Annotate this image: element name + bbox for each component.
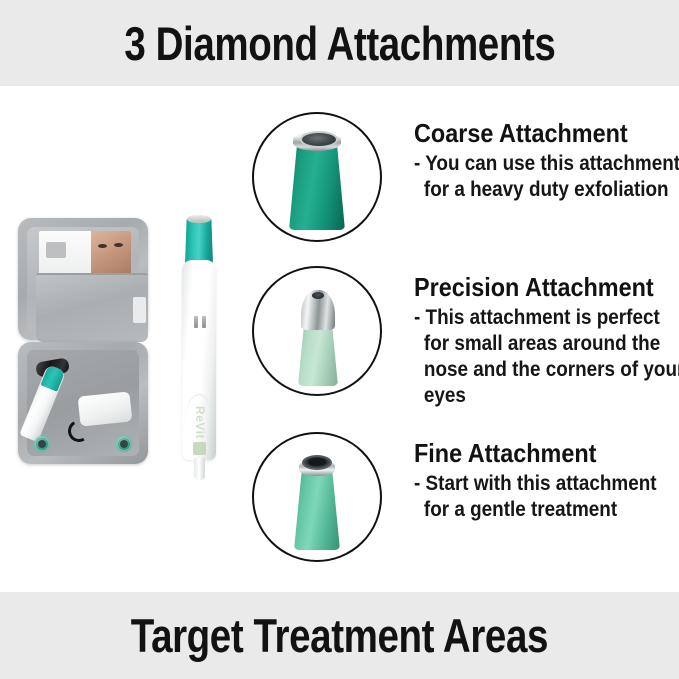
case-base-tray <box>27 350 139 456</box>
device-cord <box>194 458 205 480</box>
precision-tip-aperture <box>312 292 324 299</box>
case-base <box>18 342 148 464</box>
fine-desc-line: for a gentle treatment <box>414 497 653 523</box>
top-banner: 3 Diamond Attachments <box>0 0 679 86</box>
product-photo: ReVit <box>10 196 250 506</box>
case-lid <box>18 218 148 340</box>
coarse-heading: Coarse Attachment <box>414 118 653 148</box>
precision-desc-line: nose and the corners of your <box>414 357 653 383</box>
fine-tip-bore <box>308 458 326 466</box>
precision-desc-line: - This attachment is perfect <box>414 305 653 331</box>
case-lid-lining <box>27 227 139 331</box>
fine-heading: Fine Attachment <box>414 438 653 468</box>
coarse-diamond-tip-icon <box>254 114 380 240</box>
precision-description: - This attachment is perfect for small a… <box>414 305 653 409</box>
fine-text-block: Fine Attachment - Start with this attach… <box>414 438 679 523</box>
device-in-case <box>19 364 66 442</box>
device-attachment-tip <box>185 218 213 264</box>
face-eye-icon <box>98 244 107 248</box>
precision-desc-line: eyes <box>414 383 653 409</box>
device-tip-diamond-disc <box>187 215 211 223</box>
fine-diamond-tip-icon <box>254 434 380 560</box>
bottom-banner-title: Target Treatment Areas <box>131 612 548 659</box>
fine-attachment-circle <box>252 432 382 562</box>
bottom-banner: Target Treatment Areas <box>0 592 679 679</box>
fine-description: - Start with this attachment for a gentl… <box>414 471 653 523</box>
coarse-desc-line: - You can use this attachment <box>414 151 653 177</box>
travel-case <box>18 218 148 464</box>
device-brand-badge <box>193 442 206 455</box>
top-banner-title: 3 Diamond Attachments <box>124 20 555 67</box>
device-indicator-light <box>194 316 198 328</box>
precision-diamond-tip-icon <box>254 268 380 394</box>
coarse-tip-diamond-disc <box>300 131 338 148</box>
case-mesh-pocket <box>36 273 148 342</box>
coarse-desc-line: for a heavy duty exfoliation <box>414 177 653 203</box>
handheld-device: ReVit <box>174 210 222 482</box>
coarse-text-block: Coarse Attachment - You can use this att… <box>414 118 679 203</box>
device-indicator-light <box>202 316 206 328</box>
face-eye-icon <box>114 243 123 247</box>
coarse-attachment-circle <box>252 112 382 242</box>
precision-heading: Precision Attachment <box>414 272 653 302</box>
case-brand-tab <box>133 297 146 323</box>
coarse-description: - You can use this attachment for a heav… <box>414 151 653 203</box>
manual-cover-photo <box>91 231 131 275</box>
precision-attachment-circle <box>252 266 382 396</box>
manual-logo <box>46 242 66 258</box>
precision-text-block: Precision Attachment - This attachment i… <box>414 272 679 409</box>
device-brand-logo: ReVit <box>193 406 207 440</box>
infographic-root: 3 Diamond Attachments <box>0 0 679 679</box>
attachment-head-slot <box>34 436 50 452</box>
fine-desc-line: - Start with this attachment <box>414 471 653 497</box>
fine-tip-body <box>294 470 340 550</box>
precision-desc-line: for small areas around the <box>414 331 653 357</box>
instruction-manual <box>39 231 131 275</box>
attachment-head-slot <box>116 436 132 452</box>
coarse-tip-body <box>289 146 345 230</box>
